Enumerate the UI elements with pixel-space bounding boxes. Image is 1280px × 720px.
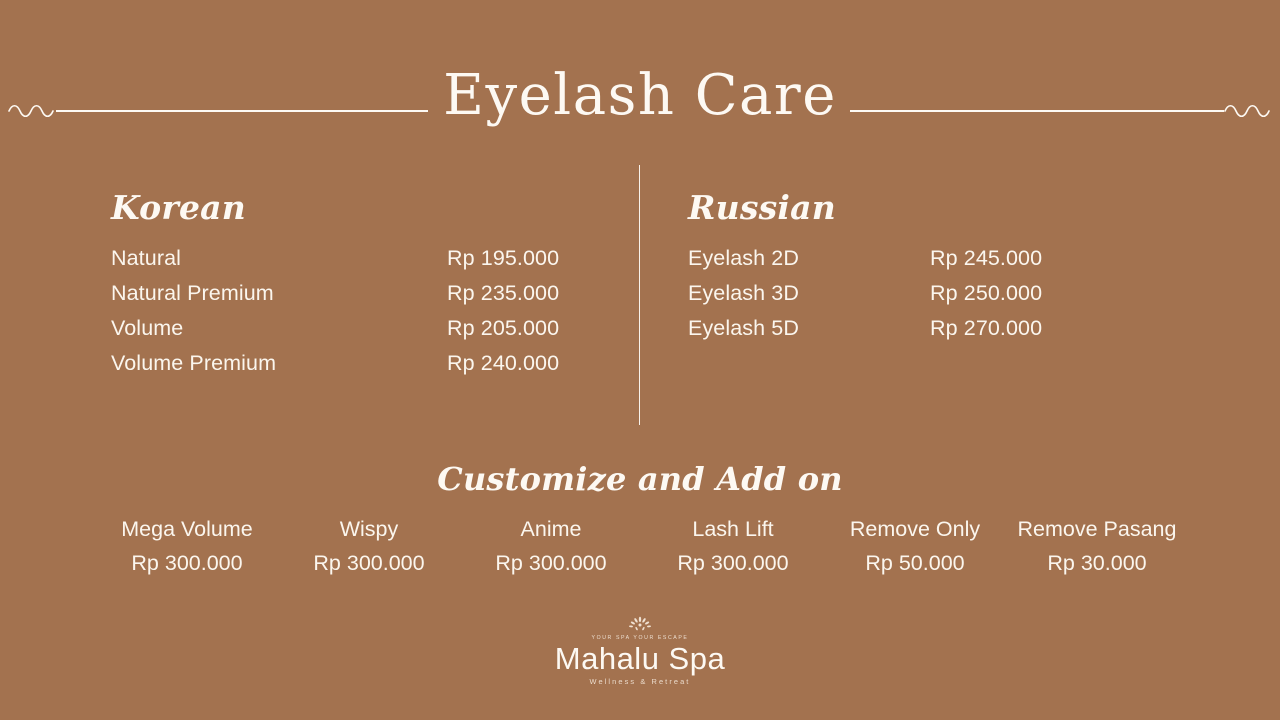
price-row: Volume Rp 205.000 xyxy=(111,316,581,351)
addon-item: Remove Pasang Rp 30.000 xyxy=(1006,512,1188,580)
logo-name: Mahalu Spa xyxy=(0,642,1280,676)
price-row: Eyelash 5D Rp 270.000 xyxy=(688,316,1128,351)
service-price: Rp 245.000 xyxy=(930,246,1042,271)
section-heading-addon: Customize and Add on xyxy=(0,458,1280,500)
addon-name: Lash Lift xyxy=(644,512,822,546)
addon-item: Anime Rp 300.000 xyxy=(460,512,642,580)
service-name: Eyelash 2D xyxy=(688,246,930,271)
service-name: Natural Premium xyxy=(111,281,447,306)
addon-price: Rp 300.000 xyxy=(280,546,458,580)
brand-logo: Your Spa Your Escape Mahalu Spa Wellness… xyxy=(0,614,1280,688)
service-price: Rp 235.000 xyxy=(447,281,559,306)
service-price: Rp 240.000 xyxy=(447,351,559,376)
service-name: Volume Premium xyxy=(111,351,447,376)
column-divider xyxy=(639,165,640,425)
addon-item: Remove Only Rp 50.000 xyxy=(824,512,1006,580)
addon-name: Anime xyxy=(462,512,640,546)
addon-price: Rp 50.000 xyxy=(826,546,1004,580)
service-section-russian: Russian Eyelash 2D Rp 245.000 Eyelash 3D… xyxy=(688,186,1128,351)
addon-price: Rp 300.000 xyxy=(462,546,640,580)
addon-name: Mega Volume xyxy=(98,512,276,546)
service-price: Rp 250.000 xyxy=(930,281,1042,306)
price-row: Volume Premium Rp 240.000 xyxy=(111,351,581,386)
price-row: Natural Premium Rp 235.000 xyxy=(111,281,581,316)
service-name: Natural xyxy=(111,246,447,271)
addon-price: Rp 30.000 xyxy=(1008,546,1186,580)
service-section-korean: Korean Natural Rp 195.000 Natural Premiu… xyxy=(111,186,581,386)
service-name: Volume xyxy=(111,316,447,341)
service-price: Rp 195.000 xyxy=(447,246,559,271)
price-list-russian: Eyelash 2D Rp 245.000 Eyelash 3D Rp 250.… xyxy=(688,246,1128,351)
poster-canvas: Eyelash Care Korean Natural Rp 195.000 N… xyxy=(0,0,1280,720)
service-price: Rp 205.000 xyxy=(447,316,559,341)
logo-tagline-top: Your Spa Your Escape xyxy=(0,634,1280,642)
section-heading-korean: Korean xyxy=(111,186,581,230)
addon-name: Wispy xyxy=(280,512,458,546)
price-row: Eyelash 2D Rp 245.000 xyxy=(688,246,1128,281)
addon-item: Mega Volume Rp 300.000 xyxy=(96,512,278,580)
addon-name: Remove Pasang xyxy=(1008,512,1186,546)
floral-sunburst-icon xyxy=(625,614,655,634)
addon-price: Rp 300.000 xyxy=(644,546,822,580)
price-row: Eyelash 3D Rp 250.000 xyxy=(688,281,1128,316)
addon-item: Wispy Rp 300.000 xyxy=(278,512,460,580)
service-name: Eyelash 5D xyxy=(688,316,930,341)
section-heading-russian: Russian xyxy=(688,186,1128,230)
service-name: Eyelash 3D xyxy=(688,281,930,306)
service-price: Rp 270.000 xyxy=(930,316,1042,341)
addon-name: Remove Only xyxy=(826,512,1004,546)
price-list-korean: Natural Rp 195.000 Natural Premium Rp 23… xyxy=(111,246,581,386)
addon-item: Lash Lift Rp 300.000 xyxy=(642,512,824,580)
addon-price: Rp 300.000 xyxy=(98,546,276,580)
addon-grid: Mega Volume Rp 300.000 Wispy Rp 300.000 … xyxy=(96,512,1188,580)
logo-tagline-bottom: Wellness & Retreat xyxy=(0,676,1280,688)
page-title: Eyelash Care xyxy=(0,58,1280,134)
poster-header: Eyelash Care xyxy=(0,58,1280,148)
price-row: Natural Rp 195.000 xyxy=(111,246,581,281)
